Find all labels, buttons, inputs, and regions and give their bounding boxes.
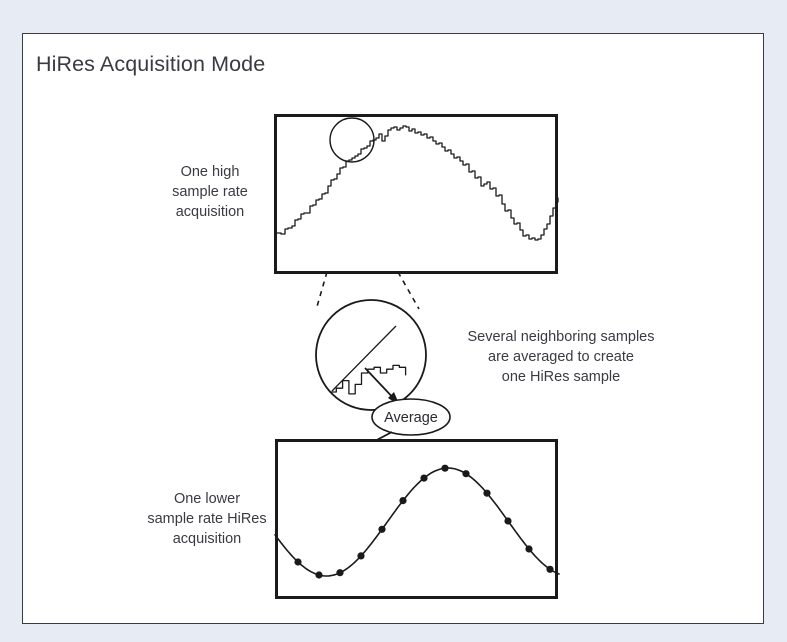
hires-sample-dot — [525, 545, 532, 552]
hires-sample-dot — [462, 470, 469, 477]
magnified-view-circle — [316, 300, 426, 410]
hires-sample-dot — [315, 571, 322, 578]
hires-sample-dot — [378, 526, 385, 533]
dashed-leader-right — [398, 272, 419, 309]
hires-sample-dot — [441, 465, 448, 472]
hires-sample-dot — [420, 475, 427, 482]
hires-sample-dot — [546, 566, 553, 573]
hires-sample-dot — [483, 490, 490, 497]
hires-sample-dot — [357, 552, 364, 559]
high-rate-waveform-box — [276, 116, 557, 273]
hires-sample-dot — [399, 497, 406, 504]
diagram-page: HiRes Acquisition Mode One high sample r… — [0, 0, 787, 642]
average-label: Average — [384, 410, 438, 426]
hires-sample-dot — [294, 558, 301, 565]
dashed-leader-left — [316, 272, 327, 310]
hires-sample-dot — [336, 569, 343, 576]
hires-sample-dot — [504, 517, 511, 524]
diagram-graphics: Average — [0, 0, 787, 642]
